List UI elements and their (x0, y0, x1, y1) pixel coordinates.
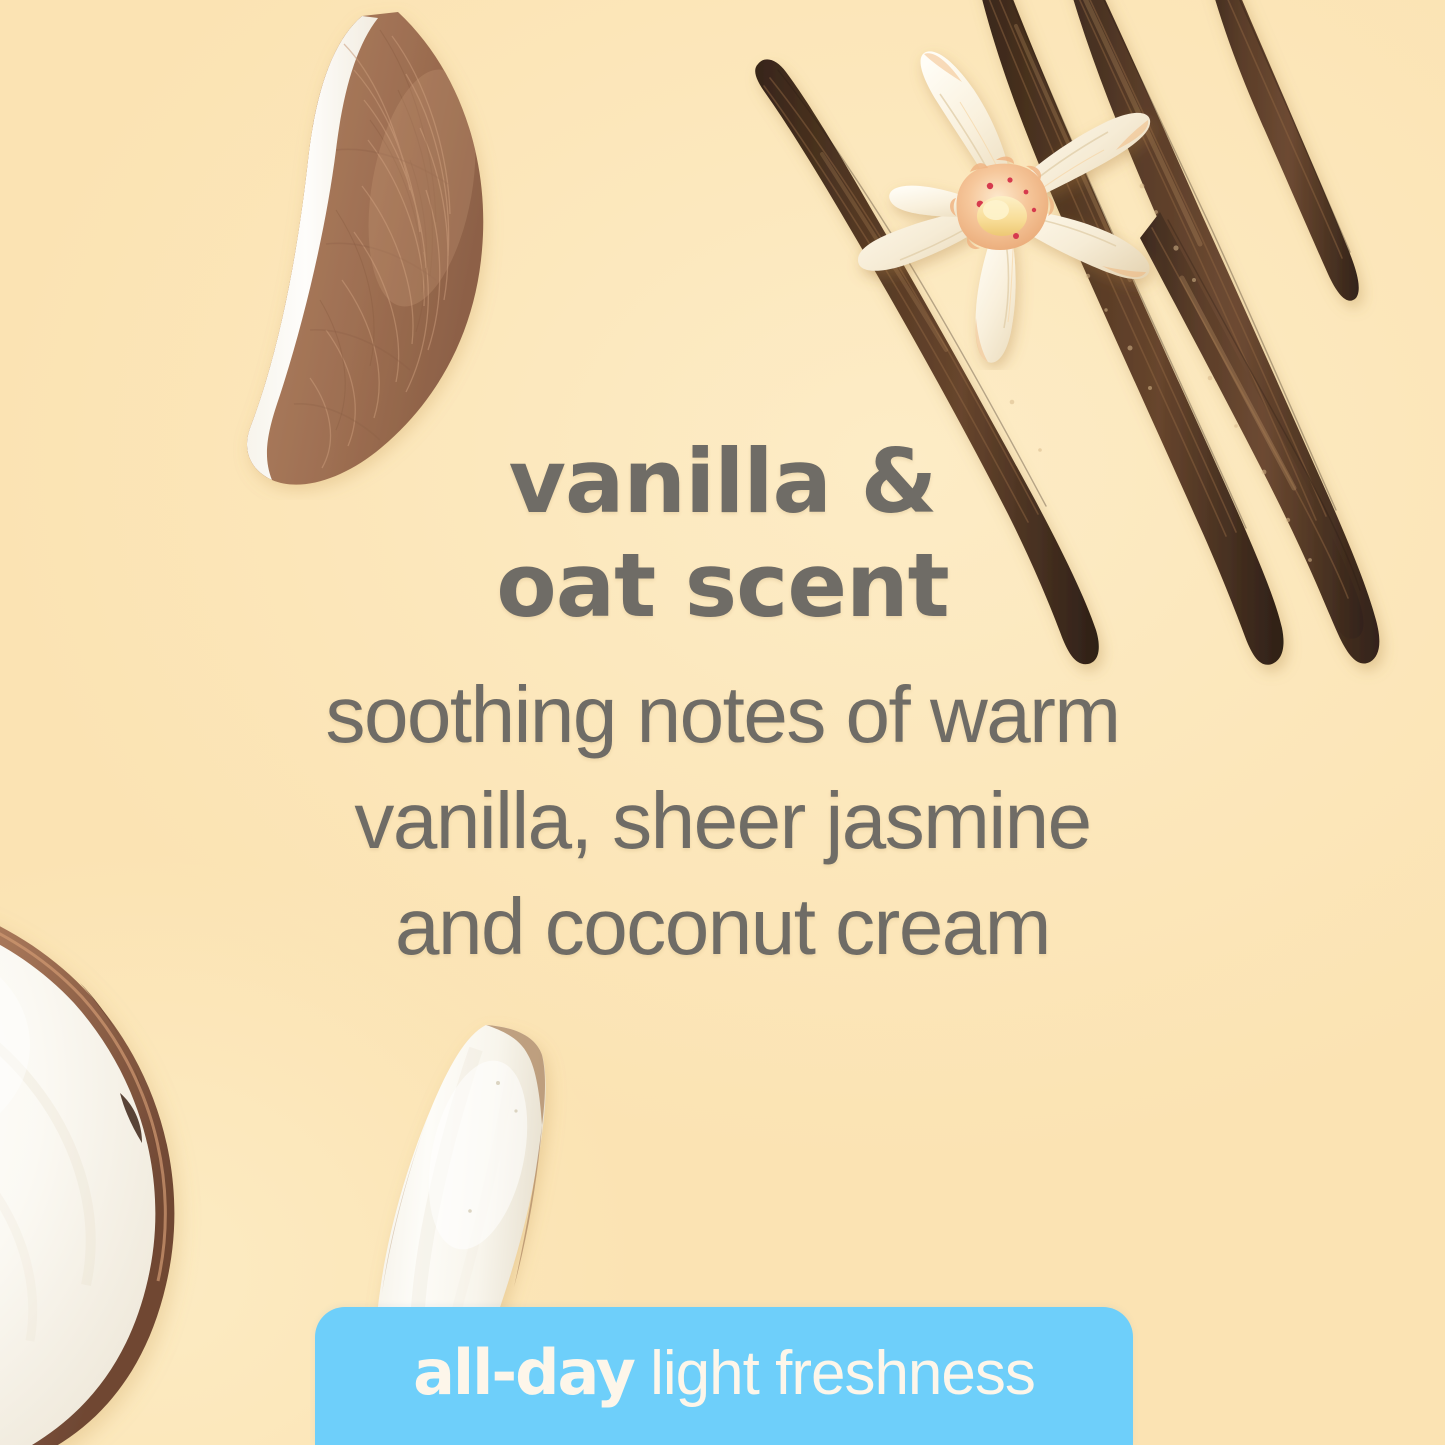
banner-light-text: light freshness (634, 1339, 1035, 1408)
subcopy-line-1: soothing notes of warm (0, 662, 1445, 768)
headline-line-1: vanilla & (0, 430, 1445, 534)
subcopy-line-2: vanilla, sheer jasmine (0, 768, 1445, 874)
coconut-slice-image (130, 0, 530, 500)
scent-copy-block: vanilla & oat scent soothing notes of wa… (0, 430, 1445, 980)
subcopy-line-3: and coconut cream (0, 874, 1445, 980)
banner-text: all-day light freshness (413, 1340, 1035, 1407)
product-scent-banner: vanilla & oat scent soothing notes of wa… (0, 0, 1445, 1445)
freshness-banner: all-day light freshness (315, 1307, 1133, 1445)
headline-line-2: oat scent (0, 534, 1445, 638)
scent-description: soothing notes of warm vanilla, sheer ja… (0, 662, 1445, 980)
vanilla-flower-image (820, 40, 1180, 370)
banner-bold-text: all-day (413, 1336, 634, 1409)
page-title: vanilla & oat scent (0, 430, 1445, 638)
